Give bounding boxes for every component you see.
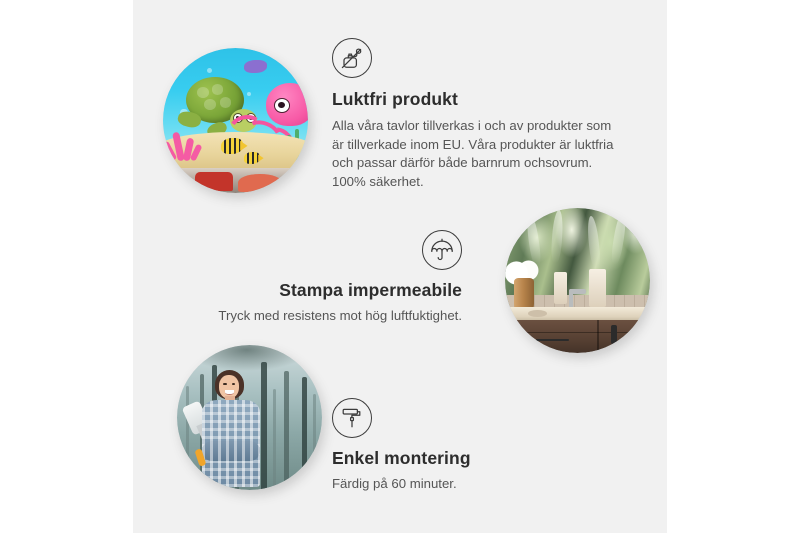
towel-shape xyxy=(589,269,606,307)
cabinet-handle-icon xyxy=(611,325,617,344)
underwater-cartoon-circle-image xyxy=(163,48,308,193)
forest-canopy-shade xyxy=(177,345,322,406)
umbrella-icon xyxy=(422,230,462,270)
feature-title: Enkel montering xyxy=(332,448,612,470)
woman-smile-shape xyxy=(225,390,234,395)
octopus-eye-icon xyxy=(274,98,290,113)
drawer-handle-icon xyxy=(536,339,569,340)
tree-trunk-shape xyxy=(284,371,289,490)
soap-dish-shape xyxy=(528,310,547,317)
tree-trunk-shape xyxy=(261,362,267,490)
woman-paint-roller-forest-circle-image xyxy=(177,345,322,490)
infographic-canvas: Luktfri produkt Alla våra tavlor tillver… xyxy=(0,0,800,533)
feature-block-montering: Enkel montering Färdig på 60 minuter. xyxy=(332,398,612,494)
tree-trunk-shape xyxy=(313,394,316,490)
tree-trunk-shape xyxy=(273,389,276,491)
icon-wrapper xyxy=(170,230,462,270)
striped-fish-shape xyxy=(244,152,260,164)
tree-trunk-shape xyxy=(186,386,189,490)
woman-crossed-arms-shape xyxy=(202,441,260,461)
sea-bottom-strip xyxy=(163,168,308,193)
feature-title: Luktfri produkt xyxy=(332,89,622,111)
feature-body: Alla våra tavlor tillverkas i och av pro… xyxy=(332,117,622,192)
feature-title: Stampa impermeabile xyxy=(170,280,462,302)
no-smell-perfume-icon xyxy=(332,38,372,78)
towel-shape xyxy=(554,272,567,304)
purple-fish-shape xyxy=(244,60,267,73)
feature-body: Färdig på 60 minuter. xyxy=(332,475,612,494)
faucet-spout-shape xyxy=(569,289,586,293)
octopus-body-shape xyxy=(266,83,308,127)
feature-block-luktfri: Luktfri produkt Alla våra tavlor tillver… xyxy=(332,38,622,192)
woman-eye-icon xyxy=(223,383,226,385)
tree-trunk-shape xyxy=(302,377,307,490)
bubble-icon xyxy=(207,68,212,73)
striped-fish-shape xyxy=(221,138,243,154)
feature-body: Tryck med resistens mot hög luftfuktighe… xyxy=(170,307,462,326)
wood-vanity-shape xyxy=(517,320,650,353)
bathroom-wallpaper-circle-image xyxy=(505,208,650,353)
paint-roller-icon xyxy=(332,398,372,438)
feature-block-impermeabile: Stampa impermeabile Tryck med resistens … xyxy=(170,230,462,326)
